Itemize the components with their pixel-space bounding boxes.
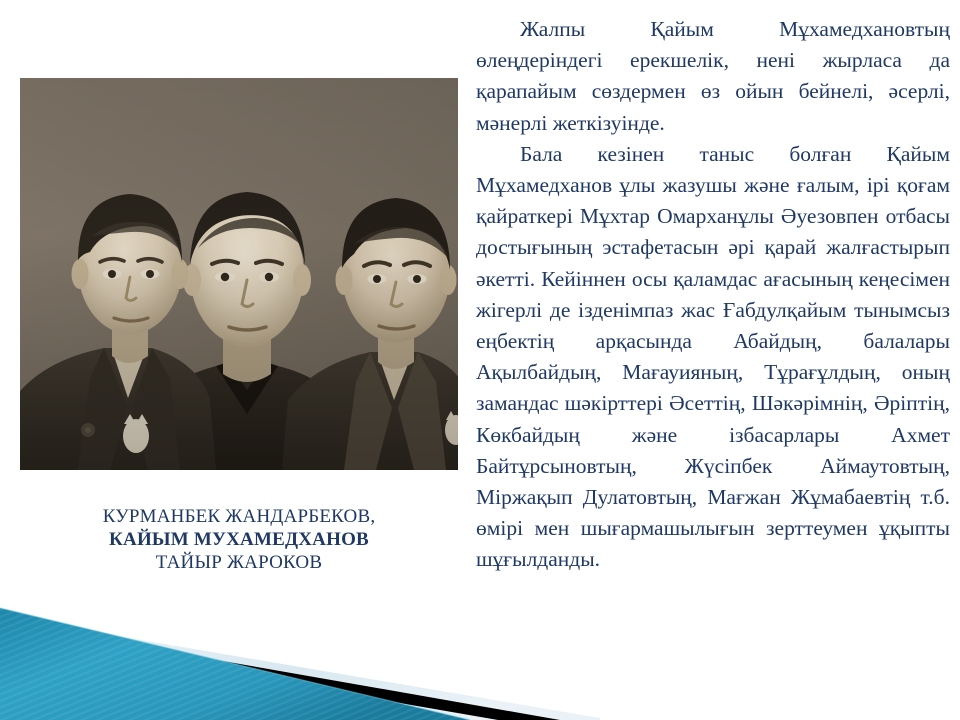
corner-decoration [0,590,600,720]
body-paragraph-2: Бала кезінен таныс болған Қайым Мұхамедх… [476,139,950,607]
portrait-photo [20,78,458,470]
slide-canvas: КУРМАНБЕК ЖАНДАРБЕКОВ, КАЙЫМ МУХАМЕДХАНО… [0,0,960,720]
body-text-column: Жалпы Қайым Мұхамедхановтың өлеңдеріндег… [476,14,950,607]
body-paragraph-1: Жалпы Қайым Мұхамедхановтың өлеңдеріндег… [476,14,950,139]
caption-line-1: КУРМАНБЕК ЖАНДАРБЕКОВ, [20,505,458,528]
portrait-photo-image [20,78,458,470]
caption-line-3: ТАЙЫР ЖАРОКОВ [20,551,458,574]
photo-caption: КУРМАНБЕК ЖАНДАРБЕКОВ, КАЙЫМ МУХАМЕДХАНО… [20,505,458,574]
corner-decoration-shapes [0,590,600,720]
caption-line-2: КАЙЫМ МУХАМЕДХАНОВ [20,528,458,551]
